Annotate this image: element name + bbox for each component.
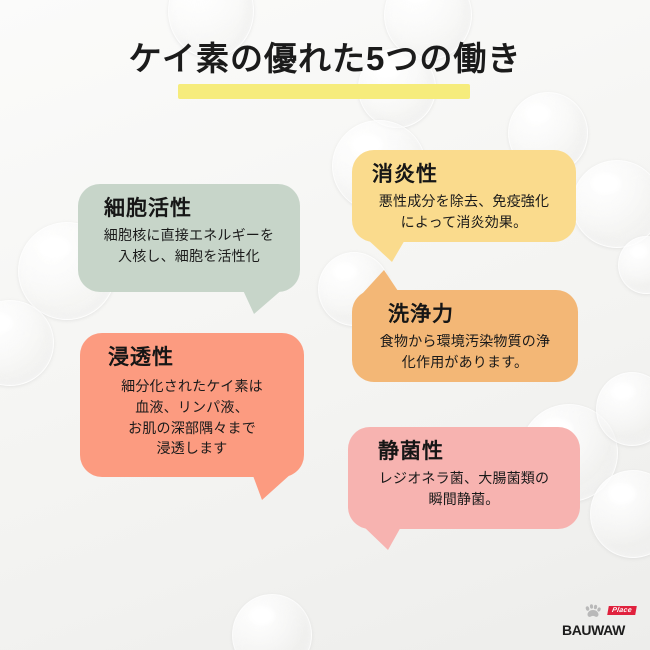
bubble-body: 細分化されたケイ素は 血液、リンパ液、 お肌の深部隅々まで 浸透します: [94, 376, 290, 459]
brand-logo: Place BAUWAW: [562, 604, 636, 638]
bubble-tail: [362, 270, 400, 294]
bubble-tail: [242, 288, 284, 314]
droplet-icon: [572, 160, 650, 248]
droplet-icon: [618, 236, 650, 294]
bubble-heading: 消炎性: [366, 162, 562, 187]
bubble-body-line: 入核し、細胞を活性化: [92, 246, 286, 267]
bubble-body-line: お肌の深部隅々まで: [94, 418, 290, 439]
bubble-body-line: 浸透します: [94, 438, 290, 459]
bubble-body: 悪性成分を除去、免疫強化 によって消炎効果。: [366, 191, 562, 232]
droplet-icon: [0, 300, 54, 386]
bubble-heading: 静菌性: [362, 439, 566, 464]
bubble-body-line: 血液、リンパ液、: [94, 397, 290, 418]
bubble-body-line: 細胞核に直接エネルギーを: [92, 225, 286, 246]
droplet-icon: [596, 372, 650, 446]
title-text: ケイ素の優れた5つの働き: [0, 38, 650, 79]
paw-print-icon: [584, 604, 602, 618]
bubble-cell-activation: 細胞活性 細胞核に直接エネルギーを 入核し、細胞を活性化: [78, 184, 300, 292]
title-highlight-bar: [178, 84, 470, 99]
bubble-heading: 細胞活性: [92, 196, 286, 221]
bubble-body: 細胞核に直接エネルギーを 入核し、細胞を活性化: [92, 225, 286, 266]
droplet-icon: [590, 470, 650, 558]
bubble-body-line: 悪性成分を除去、免疫強化: [366, 191, 562, 212]
logo-wordmark: BAUWAW: [562, 622, 625, 638]
bubble-heading: 洗浄力: [366, 302, 564, 327]
bubble-bacteriostatic: 静菌性 レジオネラ菌、大腸菌類の 瞬間静菌。: [348, 427, 580, 529]
bubble-body-line: 細分化されたケイ素は: [94, 376, 290, 397]
infographic-poster: ケイ素の優れた5つの働き 細胞活性 細胞核に直接エネルギーを 入核し、細胞を活性…: [0, 0, 650, 650]
bubble-penetration: 浸透性 細分化されたケイ素は 血液、リンパ液、 お肌の深部隅々まで 浸透します: [80, 333, 304, 477]
bubble-cleansing-power: 洗浄力 食物から環境汚染物質の浄 化作用があります。: [352, 290, 578, 382]
bubble-anti-inflammatory: 消炎性 悪性成分を除去、免疫強化 によって消炎効果。: [352, 150, 576, 242]
bubble-body-line: 瞬間静菌。: [362, 489, 566, 510]
droplet-icon: [232, 594, 312, 650]
page-title: ケイ素の優れた5つの働き: [0, 38, 650, 79]
bubble-body-line: 化作用があります。: [366, 352, 564, 373]
bubble-body: 食物から環境汚染物質の浄 化作用があります。: [366, 331, 564, 372]
bubble-tail: [362, 525, 402, 550]
bubble-body: レジオネラ菌、大腸菌類の 瞬間静菌。: [362, 468, 566, 509]
logo-badge: Place: [607, 606, 636, 615]
bubble-tail: [366, 238, 406, 262]
bubble-body-line: によって消炎効果。: [366, 212, 562, 233]
bubble-body-line: 食物から環境汚染物質の浄: [366, 331, 564, 352]
bubble-heading: 浸透性: [94, 345, 290, 370]
bubble-tail: [252, 473, 292, 500]
bubble-body-line: レジオネラ菌、大腸菌類の: [362, 468, 566, 489]
